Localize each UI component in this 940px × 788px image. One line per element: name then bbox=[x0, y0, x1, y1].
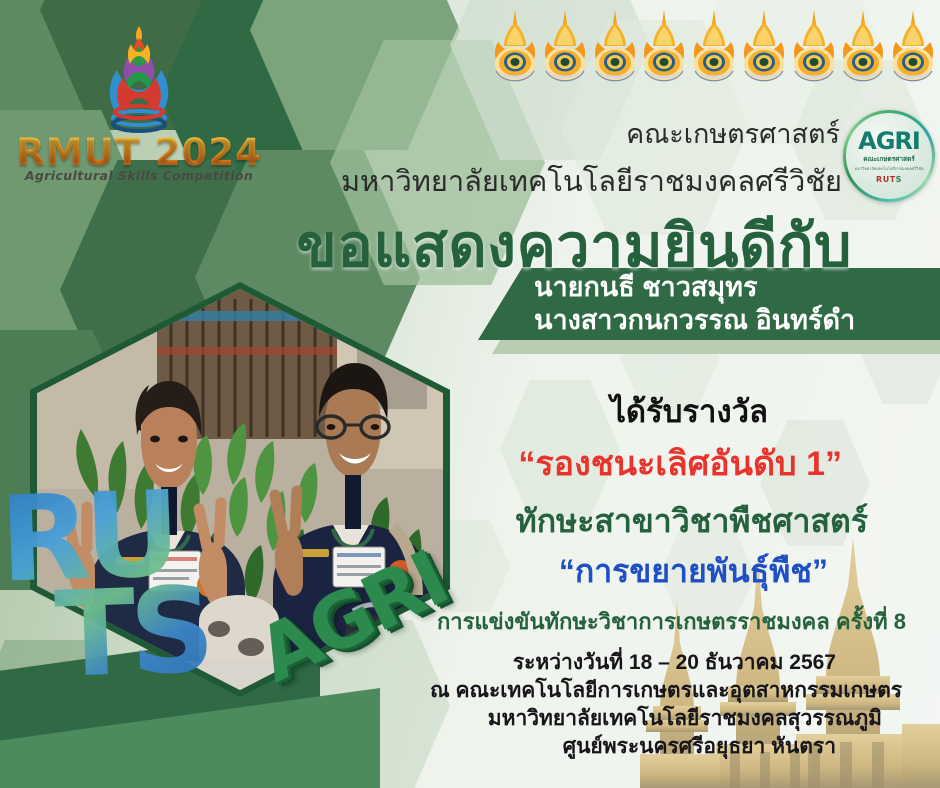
rmut-emblem-icon bbox=[791, 8, 837, 90]
agri-badge-thai-sub: มหาวิทยาลัยเทคโนโลยีราชมงคลศรีวิชัย bbox=[854, 165, 923, 172]
award-label: ได้รับรางวัล bbox=[610, 386, 768, 436]
skill-category: ทักษะสาขาวิชาพืชศาสตร์ bbox=[516, 496, 868, 547]
rmut-emblem-icon bbox=[840, 8, 886, 90]
rmut-emblem-icon bbox=[741, 8, 787, 90]
awardee-name: นางสาวกนกวรรณ อินทร์ดำ bbox=[534, 304, 940, 337]
event-title: การแข่งขันทักษะวิชาการเกษตรราชมงคล ครั้ง… bbox=[437, 604, 906, 639]
faculty-name: คณะเกษตรศาสตร์ bbox=[626, 112, 840, 155]
event-venue-line-3: ศูนย์พระนครศรีอยุธยา หันตรา bbox=[563, 730, 836, 763]
rmut-emblem-row bbox=[492, 8, 936, 92]
skill-topic: “การขยายพันธุ์พืช” bbox=[559, 546, 828, 597]
congratulations-poster: RMUT 2024 Agricultural Skills Competitio… bbox=[0, 0, 940, 788]
rmut-emblem-icon bbox=[691, 8, 737, 90]
rmut-tagline: Agricultural Skills Competition bbox=[14, 168, 264, 183]
rmut-emblem-icon bbox=[492, 8, 538, 90]
rmut-2024-logo: RMUT 2024 Agricultural Skills Competitio… bbox=[14, 18, 264, 178]
rmut-emblem-icon bbox=[592, 8, 638, 90]
agri-badge-acronym: AGRI bbox=[858, 129, 920, 153]
ruts-collage-line-2: TS bbox=[54, 581, 220, 683]
rmut-emblem-icon bbox=[641, 8, 687, 90]
award-rank: “รองชนะเลิศอันดับ 1” bbox=[518, 436, 842, 490]
agri-badge-thai-line: คณะเกษตรศาสตร์ bbox=[863, 154, 914, 164]
agri-faculty-badge: AGRI คณะเกษตรศาสตร์ มหาวิทยาลัยเทคโนโลยี… bbox=[843, 110, 935, 202]
rmut-emblem-icon bbox=[542, 8, 588, 90]
page-title: ขอแสดงความยินดีกับ bbox=[297, 198, 852, 292]
agri-badge-ruts: RUTS bbox=[876, 175, 902, 184]
ruts-collage-watermark: RU TS bbox=[0, 484, 221, 711]
rmut-emblem-icon bbox=[890, 8, 936, 90]
